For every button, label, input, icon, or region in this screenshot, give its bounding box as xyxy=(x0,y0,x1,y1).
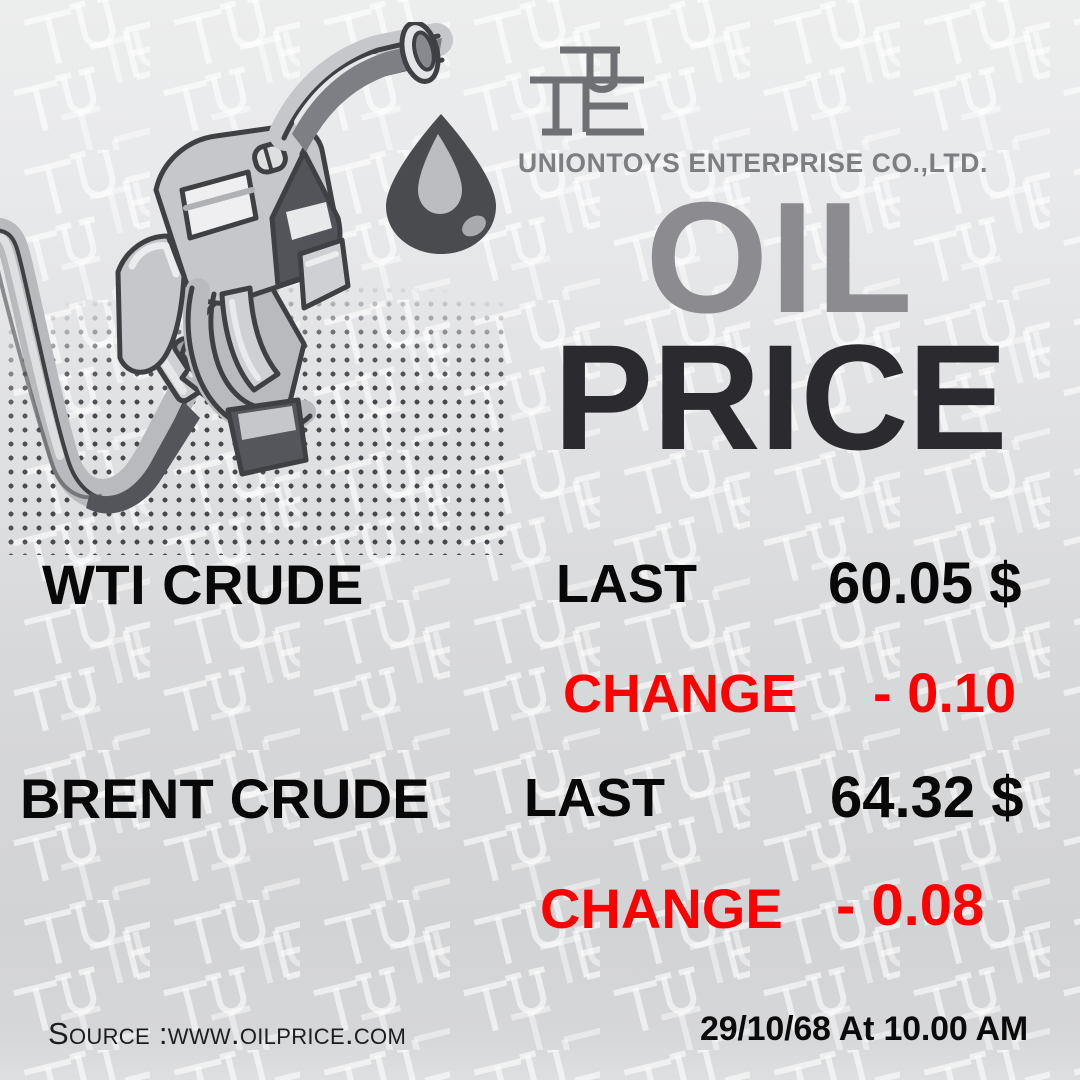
brent-last-label: LAST xyxy=(524,767,665,829)
page-title: OIL PRICE xyxy=(520,186,1040,469)
brent-crude-label: BRENT CRUDE xyxy=(20,766,430,831)
timestamp: 29/10/68 At 10.00 AM xyxy=(700,1010,1028,1049)
source-attribution: Source :www.oilprice.com xyxy=(48,1016,406,1052)
title-line-price: PRICE xyxy=(520,325,1040,469)
oil-price-poster: UNIONTOYS ENTERPRISE CO.,LTD. OIL PRICE … xyxy=(0,0,1080,1080)
brand-block: UNIONTOYS ENTERPRISE CO.,LTD. xyxy=(518,44,1038,179)
fuel-nozzle-icon xyxy=(0,22,496,532)
oil-droplet-icon xyxy=(378,108,504,258)
brent-change-label: CHANGE xyxy=(540,876,783,941)
brent-change-value: - 0.08 xyxy=(836,872,984,939)
wti-change-label: CHANGE xyxy=(563,663,797,725)
wti-last-value: 60.05 $ xyxy=(828,550,1022,617)
tue-monogram-icon xyxy=(526,44,654,140)
wti-last-label: LAST xyxy=(556,553,697,615)
brent-last-value: 64.32 $ xyxy=(830,764,1024,831)
title-line-oil: OIL xyxy=(520,186,1040,331)
wti-change-value: - 0.10 xyxy=(873,660,1016,725)
wti-crude-label: WTI CRUDE xyxy=(42,552,364,617)
